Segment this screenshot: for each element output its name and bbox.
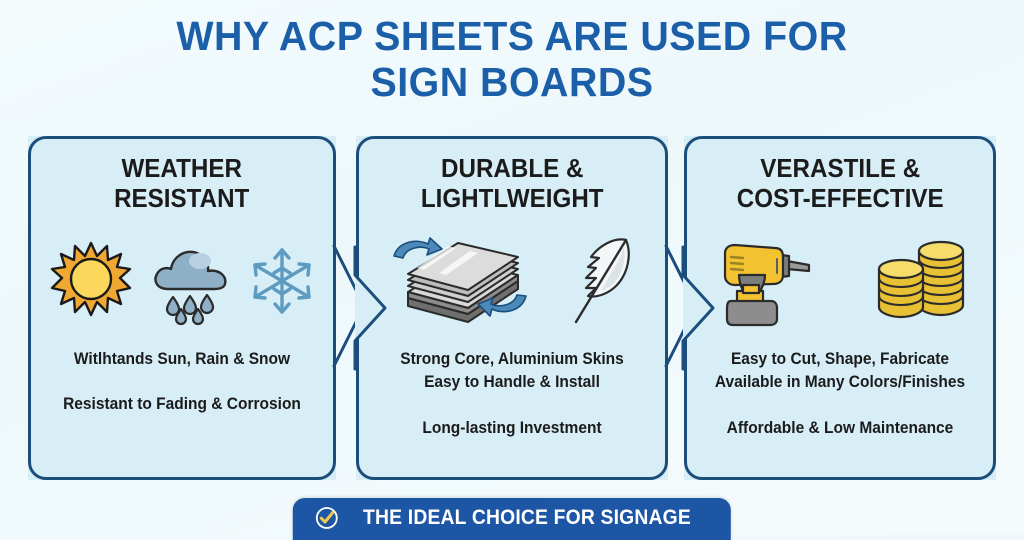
power-drill-icon: [713, 235, 817, 332]
card-body-line: Affordable & Low Maintenance: [703, 417, 977, 440]
card-content: WEATHER RESISTANT: [28, 136, 336, 480]
banner-label: THE IDEAL CHOICE FOR SIGNAGE: [363, 506, 691, 530]
benefit-card-versatile-cost-effective[interactable]: VERASTILE & COST-EFFECTIVE: [684, 136, 996, 480]
card-icon-row: [50, 232, 314, 336]
card-icon-row: [386, 232, 638, 336]
card-title: VERASTILE & COST-EFFECTIVE: [737, 154, 944, 214]
card-body-line: Witlhtands Sun, Rain & Snow: [47, 348, 318, 371]
card-title: DURABLE & LIGHTLWEIGHT: [421, 154, 604, 214]
page-title-line-1: WHY ACP SHEETS ARE USED FOR: [99, 14, 925, 60]
card-body-group-1: Strong Core, Aluminium Skins Easy to Han…: [366, 348, 658, 395]
page-title: WHY ACP SHEETS ARE USED FOR SIGN BOARDS: [99, 14, 925, 106]
card-title: WEATHER RESISTANT: [114, 154, 249, 214]
benefit-card-weather-resistant[interactable]: WEATHER RESISTANT: [28, 136, 336, 480]
benefit-card-durable-lightweight[interactable]: DURABLE & LIGHTLWEIGHT: [356, 136, 668, 480]
card-body-group-2: Affordable & Low Maintenance: [694, 417, 986, 440]
benefit-cards-row: WEATHER RESISTANT: [0, 136, 1024, 484]
card-body-group-2: Long-lasting Investment: [366, 417, 658, 440]
card-body-line: Easy to Handle & Install: [375, 371, 649, 394]
card-title-line-2: LIGHTLWEIGHT: [421, 184, 604, 214]
card-body-line: Resistant to Fading & Corrosion: [47, 393, 318, 416]
card-content: VERASTILE & COST-EFFECTIVE: [684, 136, 996, 480]
card-body-group-1: Easy to Cut, Shape, Fabricate Available …: [694, 348, 986, 395]
rain-cloud-icon: [148, 239, 234, 328]
sun-icon: [50, 240, 132, 327]
card-icon-row: [713, 232, 967, 336]
card-body-line: Strong Core, Aluminium Skins: [375, 348, 649, 371]
snowflake-icon: [250, 246, 314, 321]
layered-panel-icon: [386, 234, 532, 333]
card-title-line-2: COST-EFFECTIVE: [737, 184, 944, 214]
card-body-line: Easy to Cut, Shape, Fabricate: [703, 348, 977, 371]
card-body-group-1: Witlhtands Sun, Rain & Snow: [38, 348, 326, 371]
card-title-line-1: WEATHER: [114, 154, 249, 184]
page-title-line-2: SIGN BOARDS: [99, 60, 925, 106]
feather-icon: [566, 232, 638, 335]
card-content: DURABLE & LIGHTLWEIGHT: [356, 136, 668, 480]
card-title-line-2: RESISTANT: [114, 184, 249, 214]
card-body-group-2: Resistant to Fading & Corrosion: [38, 393, 326, 416]
card-body-line: Long-lasting Investment: [375, 417, 649, 440]
card-title-line-1: VERASTILE &: [737, 154, 944, 184]
card-body-line: Available in Many Colors/Finishes: [703, 371, 977, 394]
card-title-line-1: DURABLE &: [421, 154, 604, 184]
coin-stack-icon: [875, 237, 967, 330]
ideal-choice-banner[interactable]: THE IDEAL CHOICE FOR SIGNAGE: [293, 498, 731, 540]
page-header: WHY ACP SHEETS ARE USED FOR SIGN BOARDS: [0, 0, 1024, 106]
check-circle-icon: [315, 506, 339, 530]
